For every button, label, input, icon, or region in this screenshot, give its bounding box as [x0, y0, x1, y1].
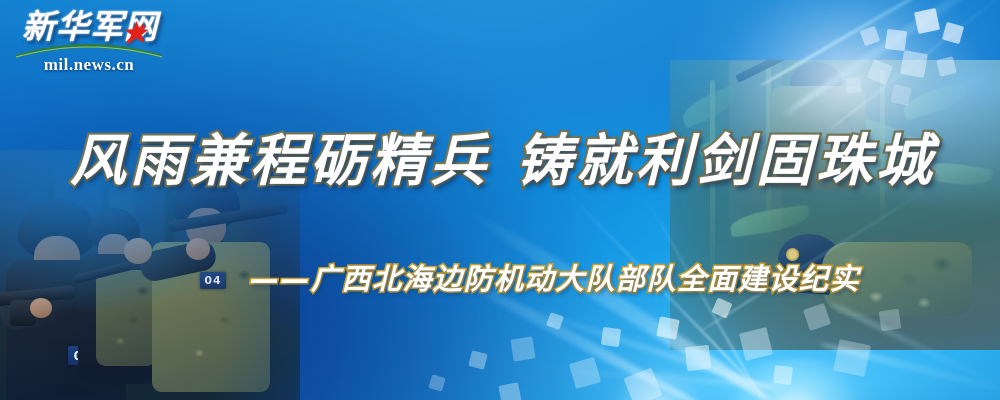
site-logo[interactable]: 新华军网 mil.news.cn — [14, 8, 164, 74]
logo-chinese-text: 新华军网 — [22, 10, 158, 43]
logo-url-text: mil.news.cn — [14, 55, 164, 75]
news-banner: 01 04 — [0, 0, 1000, 400]
